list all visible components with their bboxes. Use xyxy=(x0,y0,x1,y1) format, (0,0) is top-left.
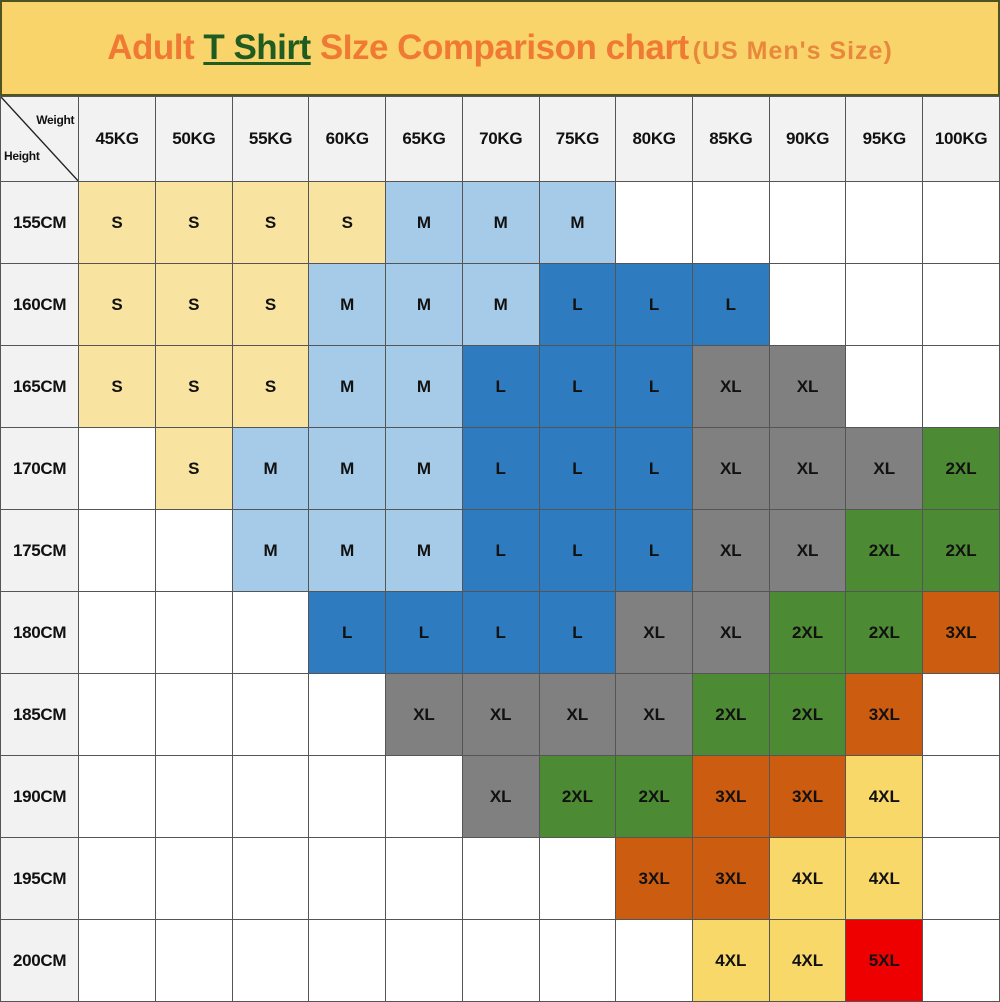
size-cell-2xl: 2XL xyxy=(692,674,769,756)
size-cell-m: M xyxy=(309,428,386,510)
size-cell-empty xyxy=(846,264,923,346)
size-cell-4xl: 4XL xyxy=(692,920,769,1002)
size-cell-empty xyxy=(769,264,846,346)
table-row: 175CMMMMLLLXLXL2XL2XL xyxy=(1,510,1000,592)
size-cell-l: L xyxy=(692,264,769,346)
column-header-100kg: 100KG xyxy=(923,97,1000,182)
size-cell-empty xyxy=(692,182,769,264)
size-cell-empty xyxy=(923,674,1000,756)
size-cell-s: S xyxy=(79,346,156,428)
size-cell-xl: XL xyxy=(769,346,846,428)
row-header-200cm: 200CM xyxy=(1,920,79,1002)
size-cell-empty xyxy=(923,264,1000,346)
table-row: 200CM4XL4XL5XL xyxy=(1,920,1000,1002)
size-cell-2xl: 2XL xyxy=(923,428,1000,510)
size-cell-l: L xyxy=(539,346,616,428)
size-cell-empty xyxy=(923,346,1000,428)
size-cell-empty xyxy=(155,510,232,592)
row-header-160cm: 160CM xyxy=(1,264,79,346)
size-cell-xl: XL xyxy=(616,674,693,756)
column-header-55kg: 55KG xyxy=(232,97,309,182)
size-cell-xl: XL xyxy=(616,592,693,674)
size-cell-4xl: 4XL xyxy=(769,920,846,1002)
row-header-155cm: 155CM xyxy=(1,182,79,264)
size-cell-empty xyxy=(769,182,846,264)
size-cell-m: M xyxy=(462,264,539,346)
title-highlight-tshirt: T Shirt xyxy=(203,28,310,67)
size-cell-l: L xyxy=(462,592,539,674)
size-cell-empty xyxy=(155,674,232,756)
size-cell-s: S xyxy=(79,264,156,346)
size-cell-4xl: 4XL xyxy=(846,756,923,838)
size-cell-empty xyxy=(386,838,463,920)
row-header-165cm: 165CM xyxy=(1,346,79,428)
corner-height-label: Height xyxy=(4,149,40,163)
size-cell-s: S xyxy=(155,264,232,346)
size-cell-xl: XL xyxy=(692,510,769,592)
row-header-185cm: 185CM xyxy=(1,674,79,756)
size-cell-m: M xyxy=(539,182,616,264)
size-cell-empty xyxy=(79,592,156,674)
size-cell-3xl: 3XL xyxy=(923,592,1000,674)
size-cell-empty xyxy=(155,592,232,674)
size-cell-2xl: 2XL xyxy=(846,592,923,674)
size-cell-empty xyxy=(386,756,463,838)
size-cell-l: L xyxy=(539,510,616,592)
size-cell-l: L xyxy=(616,510,693,592)
column-header-75kg: 75KG xyxy=(539,97,616,182)
size-cell-l: L xyxy=(462,510,539,592)
table-row: 170CMSMMMLLLXLXLXL2XL xyxy=(1,428,1000,510)
size-cell-m: M xyxy=(386,182,463,264)
column-header-45kg: 45KG xyxy=(79,97,156,182)
size-cell-m: M xyxy=(386,346,463,428)
size-cell-4xl: 4XL xyxy=(769,838,846,920)
page-title: Adult T Shirt SIze Comparison chart (US … xyxy=(107,28,893,68)
size-cell-empty xyxy=(79,674,156,756)
size-cell-empty xyxy=(462,920,539,1002)
title-part-one: Adult xyxy=(107,28,203,67)
size-cell-empty xyxy=(616,182,693,264)
size-cell-empty xyxy=(79,428,156,510)
size-cell-m: M xyxy=(309,264,386,346)
row-header-195cm: 195CM xyxy=(1,838,79,920)
table-row: 195CM3XL3XL4XL4XL xyxy=(1,838,1000,920)
size-cell-s: S xyxy=(232,182,309,264)
table-header: Weight Height 45KG50KG55KG60KG65KG70KG75… xyxy=(1,97,1000,182)
table-body: 155CMSSSSMMM160CMSSSMMMLLL165CMSSSMMLLLX… xyxy=(1,182,1000,1002)
size-cell-empty xyxy=(309,838,386,920)
size-cell-empty xyxy=(923,182,1000,264)
size-cell-5xl: 5XL xyxy=(846,920,923,1002)
size-cell-empty xyxy=(846,182,923,264)
size-cell-empty xyxy=(386,920,463,1002)
size-cell-s: S xyxy=(309,182,386,264)
size-cell-3xl: 3XL xyxy=(769,756,846,838)
size-cell-empty xyxy=(155,920,232,1002)
column-header-85kg: 85KG xyxy=(692,97,769,182)
size-cell-s: S xyxy=(232,346,309,428)
size-cell-2xl: 2XL xyxy=(846,510,923,592)
size-cell-l: L xyxy=(386,592,463,674)
size-cell-empty xyxy=(155,838,232,920)
size-cell-l: L xyxy=(539,428,616,510)
size-cell-empty xyxy=(923,920,1000,1002)
corner-axis-cell: Weight Height xyxy=(1,97,79,182)
size-comparison-chart: Adult T Shirt SIze Comparison chart (US … xyxy=(0,0,1000,1000)
size-cell-3xl: 3XL xyxy=(846,674,923,756)
table-row: 160CMSSSMMMLLL xyxy=(1,264,1000,346)
size-cell-empty xyxy=(923,838,1000,920)
size-cell-xl: XL xyxy=(692,346,769,428)
size-cell-m: M xyxy=(309,346,386,428)
size-cell-xl: XL xyxy=(539,674,616,756)
size-cell-2xl: 2XL xyxy=(769,592,846,674)
size-cell-empty xyxy=(846,346,923,428)
size-cell-2xl: 2XL xyxy=(539,756,616,838)
table-row: 190CMXL2XL2XL3XL3XL4XL xyxy=(1,756,1000,838)
size-cell-l: L xyxy=(309,592,386,674)
table-row: 155CMSSSSMMM xyxy=(1,182,1000,264)
table-row: 185CMXLXLXLXL2XL2XL3XL xyxy=(1,674,1000,756)
size-cell-2xl: 2XL xyxy=(616,756,693,838)
size-cell-empty xyxy=(232,838,309,920)
size-cell-empty xyxy=(462,838,539,920)
size-cell-xl: XL xyxy=(846,428,923,510)
size-cell-xl: XL xyxy=(462,674,539,756)
size-cell-2xl: 2XL xyxy=(923,510,1000,592)
size-cell-s: S xyxy=(155,346,232,428)
size-cell-l: L xyxy=(616,264,693,346)
column-header-80kg: 80KG xyxy=(616,97,693,182)
size-cell-l: L xyxy=(539,264,616,346)
size-cell-empty xyxy=(616,920,693,1002)
size-cell-empty xyxy=(79,920,156,1002)
column-header-60kg: 60KG xyxy=(309,97,386,182)
row-header-175cm: 175CM xyxy=(1,510,79,592)
size-cell-xl: XL xyxy=(462,756,539,838)
diagonal-divider-icon xyxy=(1,97,78,181)
size-cell-m: M xyxy=(386,510,463,592)
size-cell-empty xyxy=(79,756,156,838)
size-cell-l: L xyxy=(462,428,539,510)
size-cell-m: M xyxy=(232,428,309,510)
size-cell-empty xyxy=(539,838,616,920)
column-header-90kg: 90KG xyxy=(769,97,846,182)
column-header-70kg: 70KG xyxy=(462,97,539,182)
row-header-170cm: 170CM xyxy=(1,428,79,510)
row-header-190cm: 190CM xyxy=(1,756,79,838)
size-table: Weight Height 45KG50KG55KG60KG65KG70KG75… xyxy=(0,96,1000,1002)
size-cell-empty xyxy=(923,756,1000,838)
size-cell-xl: XL xyxy=(692,592,769,674)
size-cell-empty xyxy=(155,756,232,838)
size-cell-empty xyxy=(309,674,386,756)
header-row: Weight Height 45KG50KG55KG60KG65KG70KG75… xyxy=(1,97,1000,182)
size-cell-empty xyxy=(232,756,309,838)
size-cell-3xl: 3XL xyxy=(692,756,769,838)
size-cell-s: S xyxy=(79,182,156,264)
chart-title-banner: Adult T Shirt SIze Comparison chart (US … xyxy=(0,0,1000,96)
size-cell-xl: XL xyxy=(769,510,846,592)
size-cell-xl: XL xyxy=(692,428,769,510)
table-row: 165CMSSSMMLLLXLXL xyxy=(1,346,1000,428)
size-cell-4xl: 4XL xyxy=(846,838,923,920)
size-cell-xl: XL xyxy=(769,428,846,510)
size-cell-xl: XL xyxy=(386,674,463,756)
size-cell-l: L xyxy=(616,428,693,510)
corner-weight-label: Weight xyxy=(36,113,74,127)
size-cell-s: S xyxy=(232,264,309,346)
column-header-50kg: 50KG xyxy=(155,97,232,182)
size-cell-l: L xyxy=(539,592,616,674)
size-cell-empty xyxy=(309,756,386,838)
size-cell-empty xyxy=(232,674,309,756)
title-subtitle: (US Men's Size) xyxy=(693,37,893,65)
size-cell-empty xyxy=(79,510,156,592)
size-cell-l: L xyxy=(462,346,539,428)
size-cell-3xl: 3XL xyxy=(692,838,769,920)
grid-container: Weight Height 45KG50KG55KG60KG65KG70KG75… xyxy=(0,96,1000,1002)
size-cell-empty xyxy=(309,920,386,1002)
size-cell-empty xyxy=(232,592,309,674)
size-cell-empty xyxy=(232,920,309,1002)
table-row: 180CMLLLLXLXL2XL2XL3XL xyxy=(1,592,1000,674)
size-cell-l: L xyxy=(616,346,693,428)
row-header-180cm: 180CM xyxy=(1,592,79,674)
size-cell-m: M xyxy=(386,264,463,346)
column-header-65kg: 65KG xyxy=(386,97,463,182)
size-cell-m: M xyxy=(462,182,539,264)
size-cell-empty xyxy=(79,838,156,920)
size-cell-m: M xyxy=(232,510,309,592)
column-header-95kg: 95KG xyxy=(846,97,923,182)
size-cell-2xl: 2XL xyxy=(769,674,846,756)
size-cell-empty xyxy=(539,920,616,1002)
size-cell-m: M xyxy=(386,428,463,510)
title-part-two: SIze Comparison chart xyxy=(311,28,689,67)
size-cell-m: M xyxy=(309,510,386,592)
size-cell-3xl: 3XL xyxy=(616,838,693,920)
size-cell-s: S xyxy=(155,428,232,510)
size-cell-s: S xyxy=(155,182,232,264)
